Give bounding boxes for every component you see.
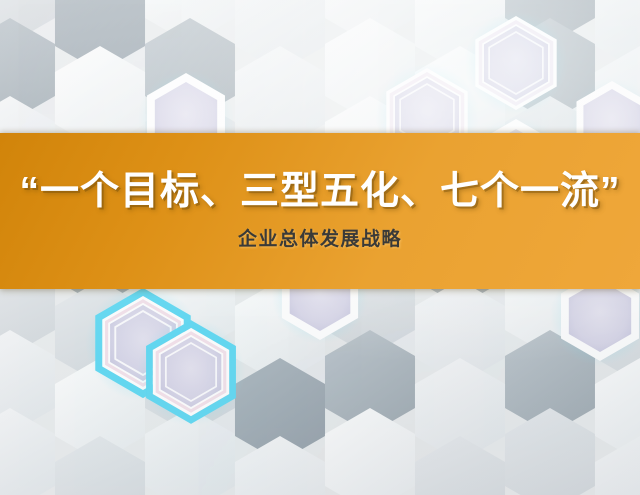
page-title: “一个目标、三型五化、七个一流” (19, 171, 620, 214)
title-slide: “一个目标、三型五化、七个一流” 企业总体发展战略 (0, 0, 640, 495)
page-subtitle: 企业总体发展战略 (238, 230, 402, 251)
title-banner: “一个目标、三型五化、七个一流” 企业总体发展战略 (0, 133, 640, 289)
